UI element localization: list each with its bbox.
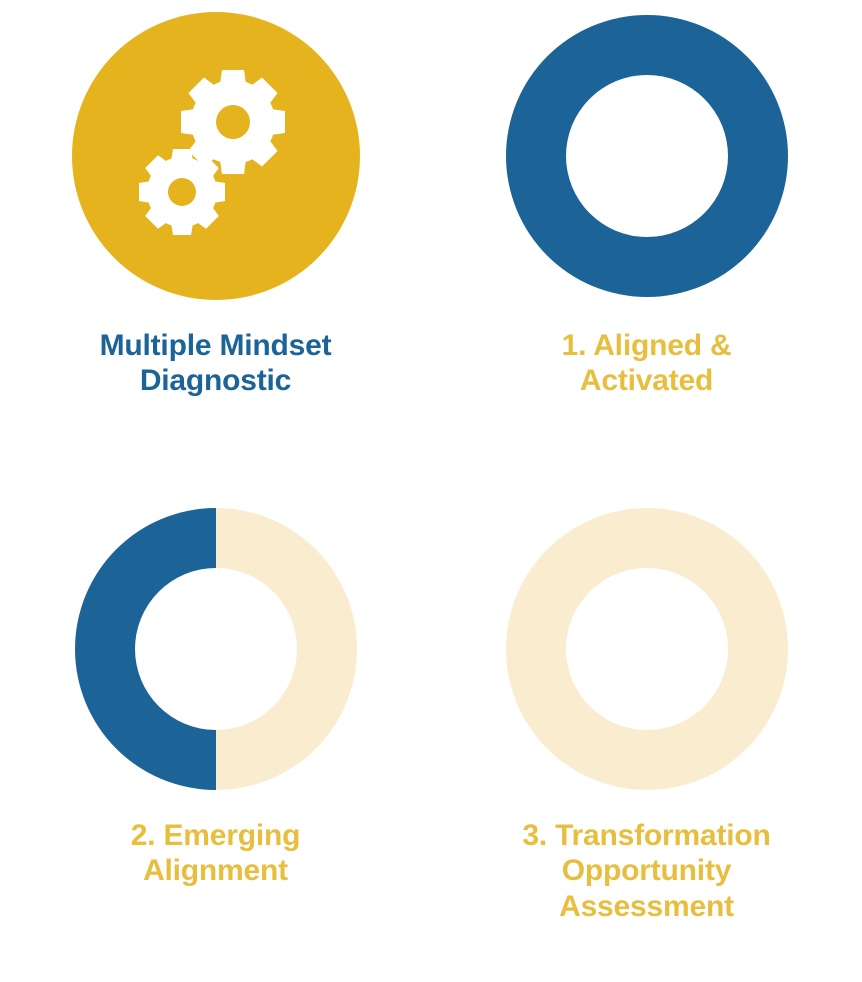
donut-ring — [75, 508, 357, 790]
card-label-aligned-and-activated: 1. Aligned & Activated — [431, 328, 862, 399]
card-label-line: Alignment — [14, 853, 417, 888]
card-label-line: Multiple Mindset — [14, 328, 417, 363]
graphic-donut-emerging-alignment — [72, 505, 360, 793]
card-aligned-and-activated[interactable]: 1. Aligned & Activated — [431, 0, 862, 491]
card-label-line: 1. Aligned & — [445, 328, 848, 363]
card-grid: Multiple Mindset Diagnostic 1. Aligned &… — [0, 0, 862, 982]
diagnostic-board: Multiple Mindset Diagnostic 1. Aligned &… — [0, 0, 862, 982]
gears-icon — [72, 12, 360, 300]
donut-hole — [135, 568, 297, 730]
graphic-gears-badge — [72, 12, 360, 300]
card-label-line: Activated — [445, 363, 848, 398]
graphic-donut-aligned-activated — [503, 12, 791, 300]
card-multiple-mindset-diagnostic[interactable]: Multiple Mindset Diagnostic — [0, 0, 431, 491]
card-label-line: Opportunity — [445, 853, 848, 888]
graphic-donut-transformation-opportunity — [503, 505, 791, 793]
card-label-line: Assessment — [445, 889, 848, 924]
card-emerging-alignment[interactable]: 2. Emerging Alignment — [0, 491, 431, 982]
donut-hole — [566, 568, 728, 730]
card-label-line: Diagnostic — [14, 363, 417, 398]
donut-ring — [506, 15, 788, 297]
donut-hole — [566, 75, 728, 237]
card-label-transformation-opportunity: 3. Transformation Opportunity Assessment — [431, 818, 862, 924]
card-label-multiple-mindset-diagnostic: Multiple Mindset Diagnostic — [0, 328, 431, 399]
card-label-emerging-alignment: 2. Emerging Alignment — [0, 818, 431, 889]
card-transformation-opportunity[interactable]: 3. Transformation Opportunity Assessment — [431, 491, 862, 982]
card-label-line: 2. Emerging — [14, 818, 417, 853]
donut-ring — [506, 508, 788, 790]
card-label-line: 3. Transformation — [445, 818, 848, 853]
